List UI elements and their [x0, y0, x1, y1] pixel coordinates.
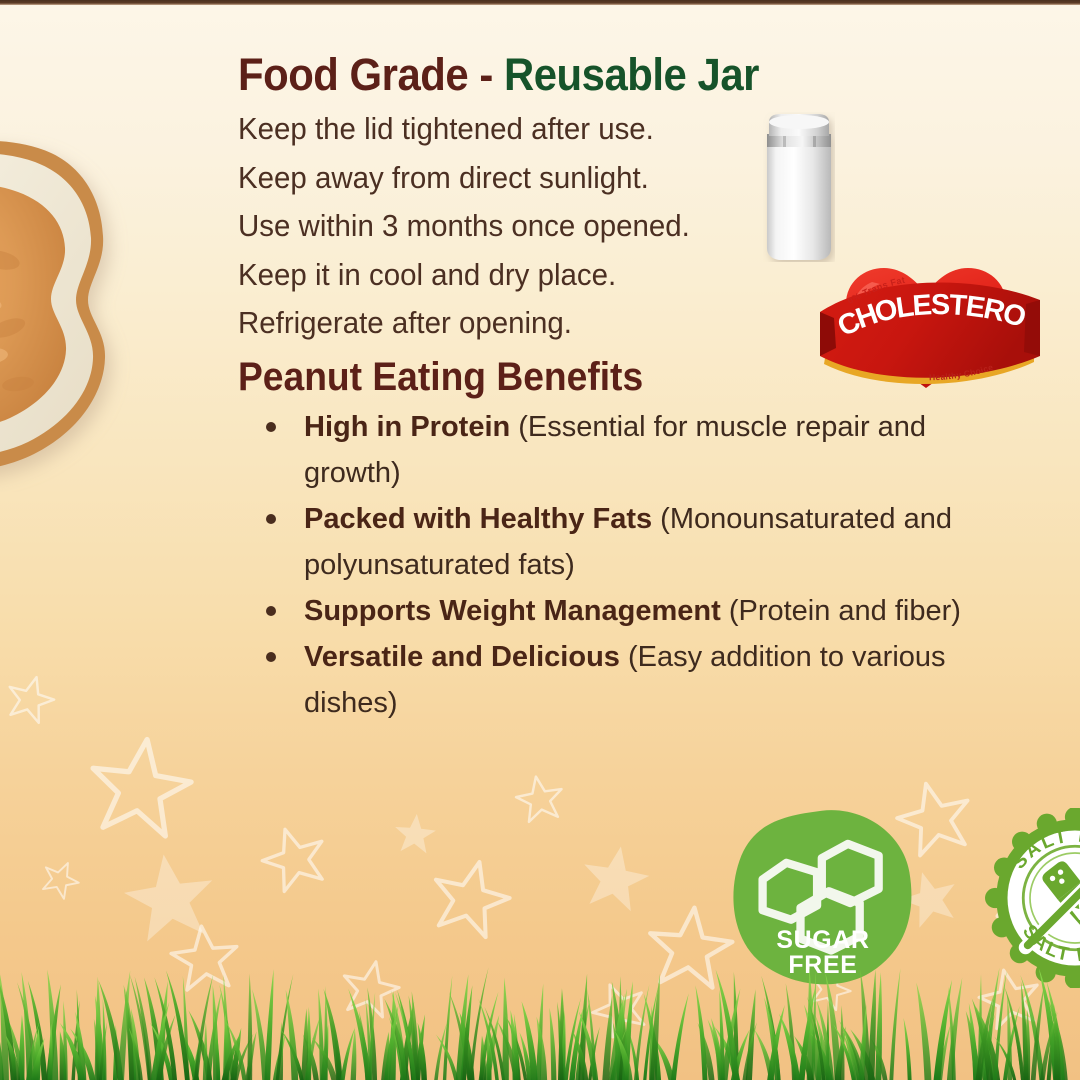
headline-part-1: Food Grade — [238, 49, 468, 100]
no-additives-badge-icon: NO PRESERVATIVES ARTIFICIAL FLAVORS ADDE… — [762, 796, 1080, 976]
benefit-detail: (Protein and fiber) — [721, 595, 961, 627]
storage-instructions-list: Keep the lid tightened after use. Keep a… — [238, 105, 1038, 348]
content-column: Food Grade - Reusable Jar Keep the lid t… — [238, 52, 1038, 726]
page-title: Food Grade - Reusable Jar — [238, 52, 982, 97]
benefit-lead: High in Protein — [304, 411, 510, 443]
benefit-item: Supports Weight Management (Protein and … — [266, 588, 1006, 634]
benefits-list: High in Protein (Essential for muscle re… — [238, 404, 1006, 726]
peanut-butter-toast-image — [0, 132, 188, 492]
top-border-strip — [0, 0, 1080, 5]
instruction-item: Refrigerate after opening. — [238, 299, 998, 348]
headline-part-2: Reusable Jar — [504, 49, 759, 100]
poster-canvas: 0% Trans Fat CHOLESTEROL FREE Healthy Ch… — [0, 0, 1080, 1080]
instruction-item: Keep it in cool and dry place. — [238, 251, 998, 300]
headline-dash: - — [468, 49, 504, 100]
benefit-lead: Versatile and Delicious — [304, 641, 620, 673]
benefit-item: Packed with Healthy Fats (Monounsaturate… — [266, 496, 1006, 588]
certification-badges-row: SUGAR FREE — [0, 796, 1080, 976]
benefit-item: Versatile and Delicious (Easy addition t… — [266, 634, 1006, 726]
benefit-lead: Supports Weight Management — [304, 595, 721, 627]
benefit-lead: Packed with Healthy Fats — [304, 503, 652, 535]
instruction-item: Use within 3 months once opened. — [238, 202, 998, 251]
benefits-heading: Peanut Eating Benefits — [238, 356, 982, 398]
instruction-item: Keep away from direct sunlight. — [238, 154, 998, 203]
instruction-item: Keep the lid tightened after use. — [238, 105, 998, 154]
benefit-item: High in Protein (Essential for muscle re… — [266, 404, 1006, 496]
